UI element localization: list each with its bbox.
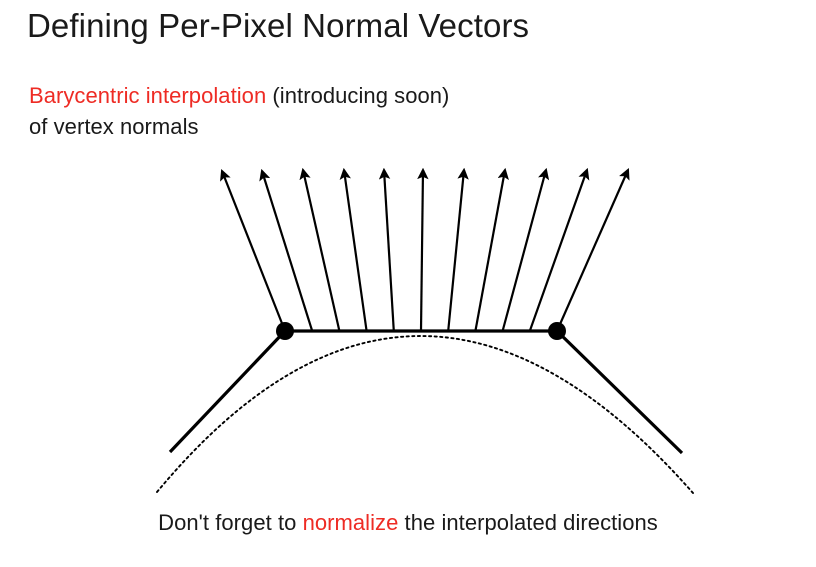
right-adjacent-edge xyxy=(557,331,682,453)
caption-after: the interpolated directions xyxy=(398,510,657,535)
normal-arrow-10 xyxy=(557,170,628,331)
adjacent-edges-group xyxy=(170,331,682,453)
normal-arrow-6 xyxy=(448,170,464,331)
normal-arrow-0 xyxy=(222,171,285,331)
normal-arrow-5 xyxy=(421,170,423,331)
normal-vectors-diagram xyxy=(0,0,816,567)
normal-arrow-3 xyxy=(344,170,367,331)
true-surface-curve xyxy=(157,336,693,493)
normalize-highlight: normalize xyxy=(303,510,399,535)
diagram-canvas xyxy=(0,0,816,567)
normal-arrow-2 xyxy=(303,170,339,331)
normal-arrow-1 xyxy=(262,171,312,331)
slide: Defining Per-Pixel Normal Vectors Baryce… xyxy=(0,0,816,567)
left-adjacent-edge xyxy=(170,331,285,452)
caption-before: Don't forget to xyxy=(158,510,302,535)
left-vertex-dot xyxy=(276,322,294,340)
normal-arrow-4 xyxy=(384,170,394,331)
normal-arrows-group xyxy=(222,170,628,331)
normal-arrow-7 xyxy=(475,170,505,331)
right-vertex-dot xyxy=(548,322,566,340)
caption: Don't forget to normalize the interpolat… xyxy=(0,508,816,538)
true-surface-curve-path xyxy=(157,336,693,493)
